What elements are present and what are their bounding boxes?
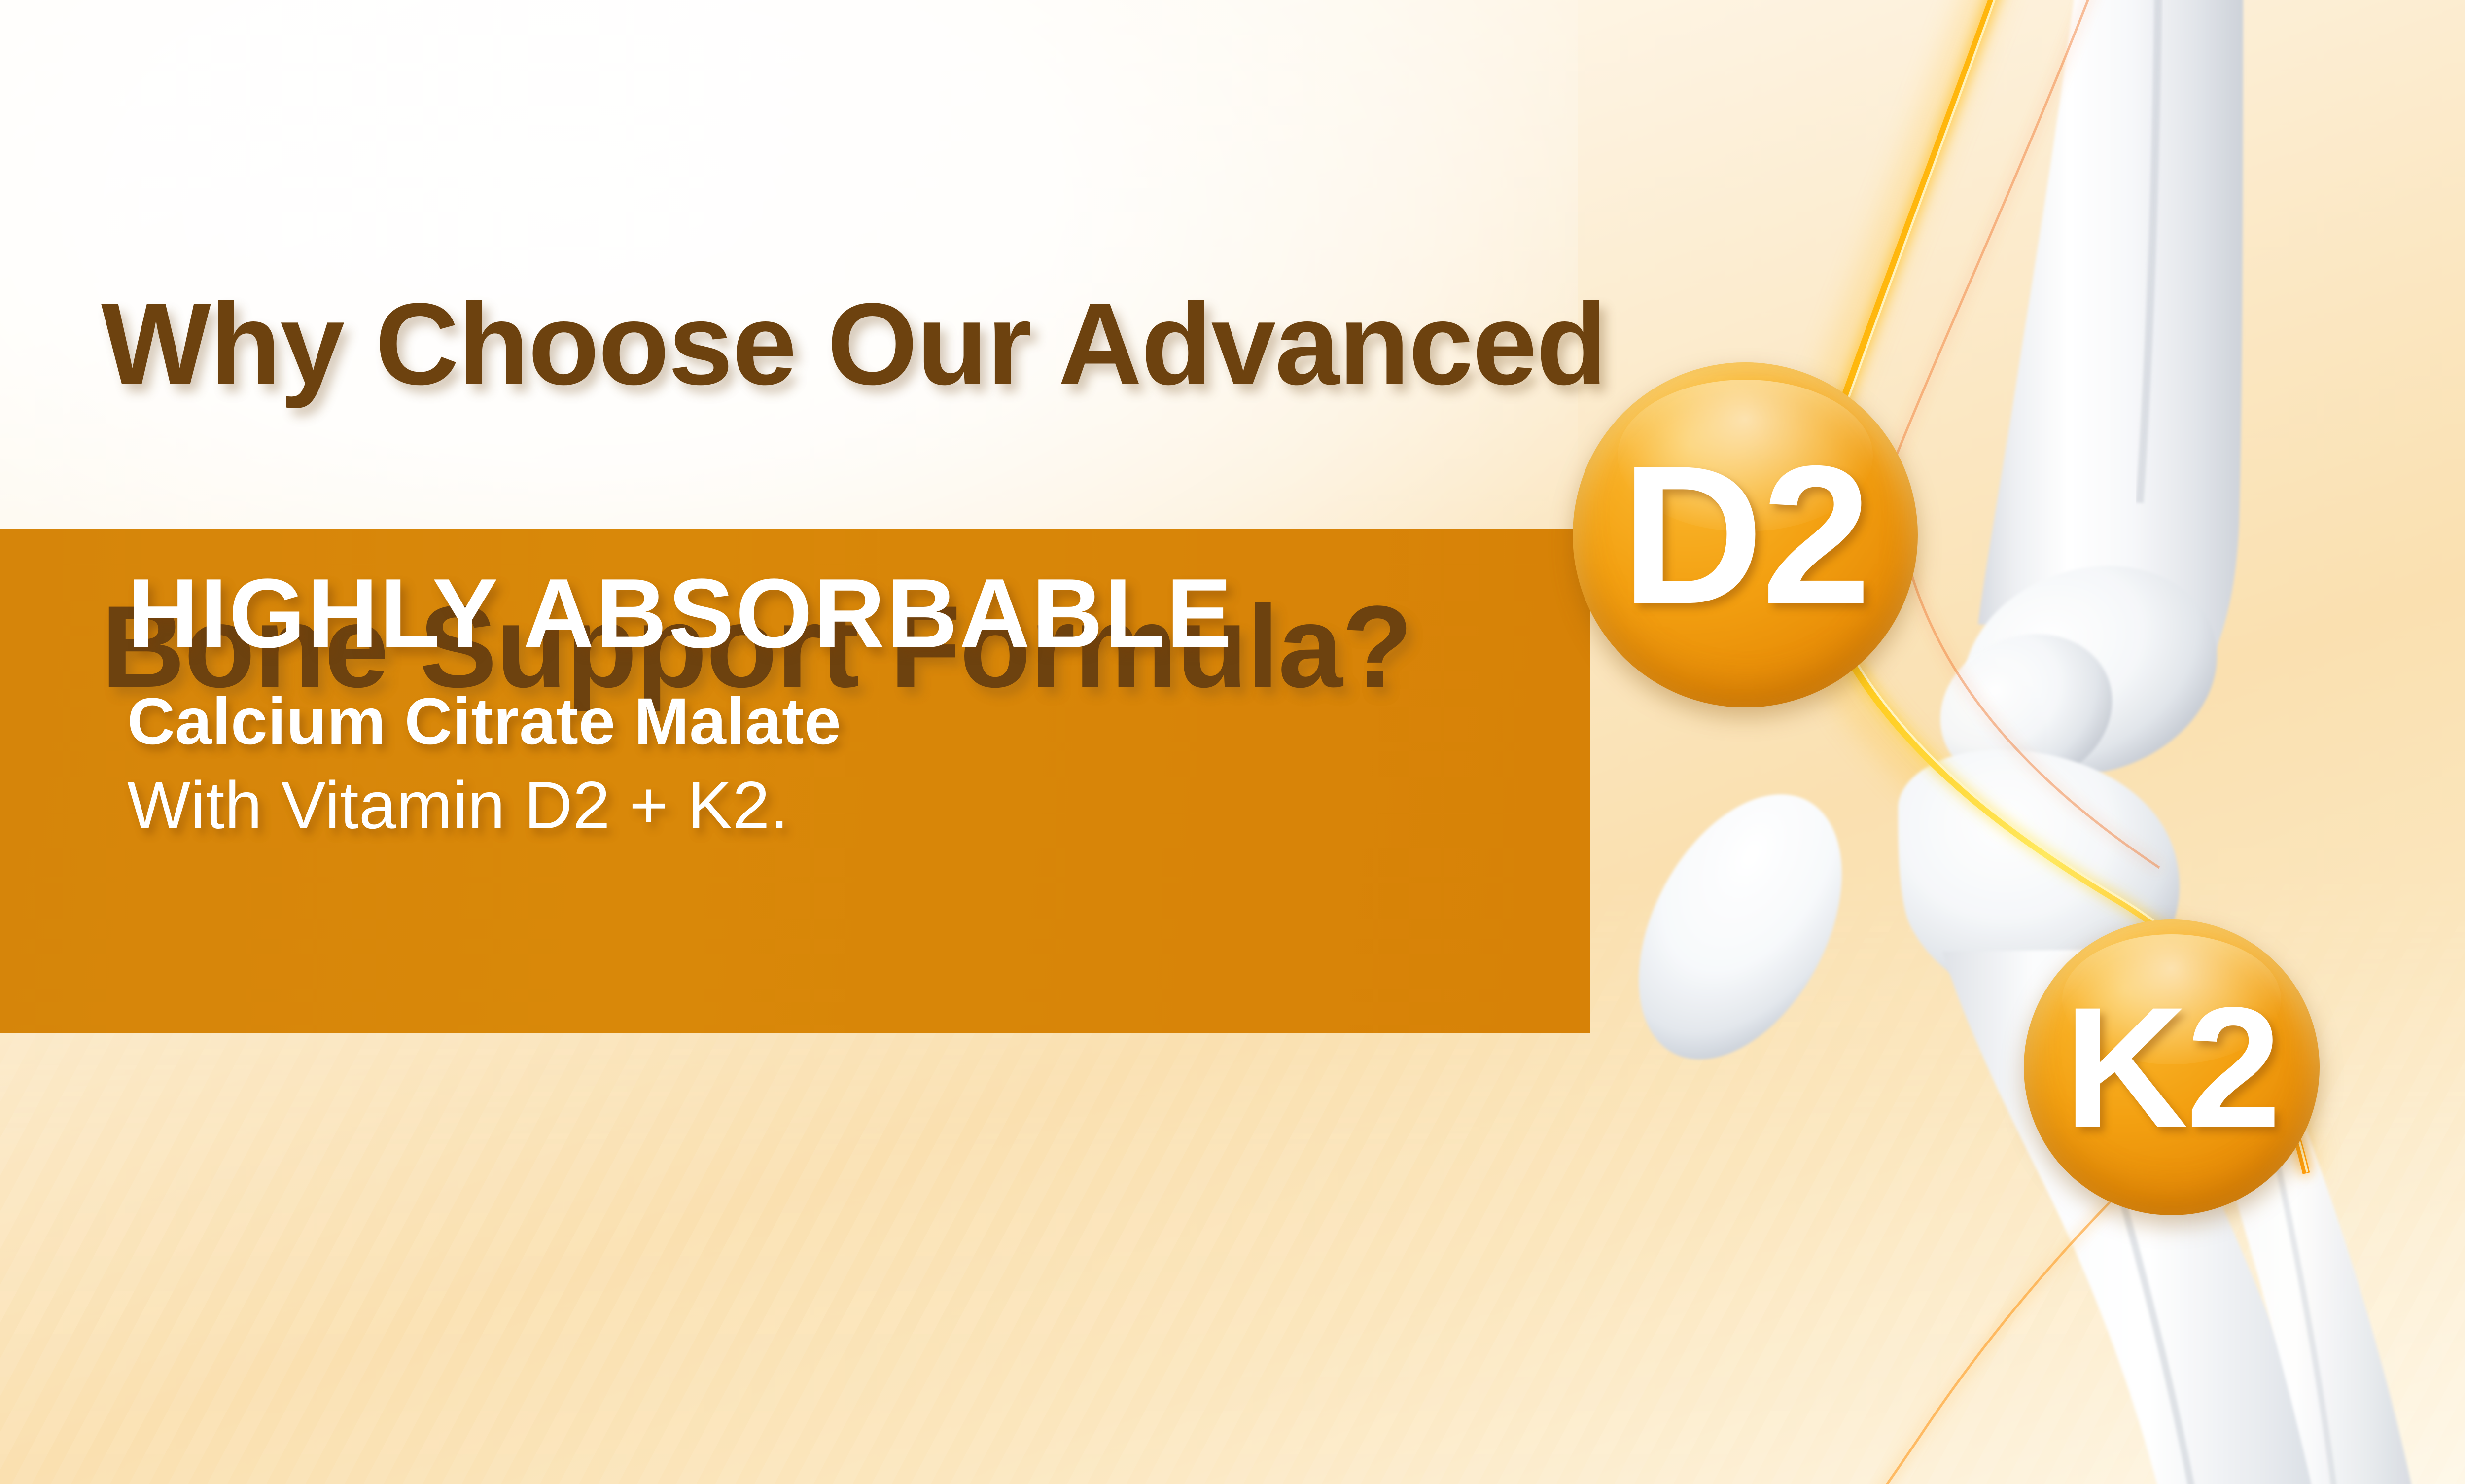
promo-kicker: HIGHLY ABSORBABLE (127, 565, 1557, 663)
promo-band-text: HIGHLY ABSORBABLE Calcium Citrate Malate… (127, 565, 1557, 841)
vitamin-k2-badge: K2 (2024, 919, 2320, 1215)
vitamin-d2-badge: D2 (1573, 362, 1918, 707)
knee-joint-bone-illustration (1553, 0, 2465, 1484)
promo-subtitle-vitamins: With Vitamin D2 + K2. (127, 770, 1557, 841)
bone-support-promo-banner: Why Choose Our Advanced Bone Support For… (0, 0, 2465, 1484)
vitamin-d2-badge-label: D2 (1621, 422, 1869, 648)
promo-subtitle-ingredient: Calcium Citrate Malate (127, 687, 1557, 757)
headline-line-1: Why Choose Our Advanced (101, 269, 1629, 420)
vitamin-k2-badge-label: K2 (2064, 969, 2280, 1166)
